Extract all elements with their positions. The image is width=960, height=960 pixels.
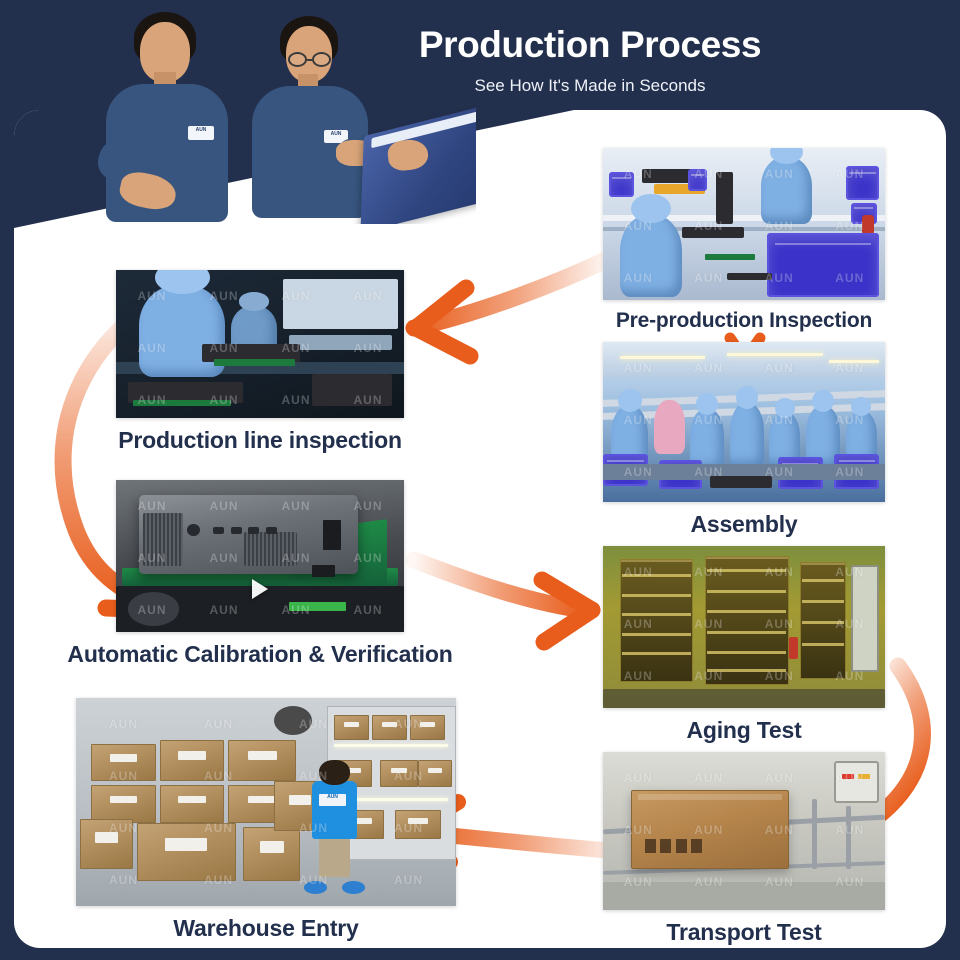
uniform-logo-right: AUN — [324, 130, 348, 138]
step-pre-production-inspection[interactable]: AUNAUNAUNAUN AUNAUNAUNAUN AUNAUNAUNAUN P… — [603, 148, 885, 333]
step-transport-test[interactable]: AUNAUNAUNAUN AUNAUNAUNAUN AUNAUNAUNAUN T… — [603, 752, 885, 946]
step-assembly[interactable]: AUNAUNAUNAUN AUNAUNAUNAUN AUNAUNAUNAUN A… — [603, 342, 885, 538]
step-photo-warehouse-entry[interactable]: AUN AUNAUNAUNAUN AUNAUNAUNAUN AUNAUNAUNA… — [76, 698, 456, 906]
step-photo-production-line[interactable]: AUNAUNAUNAUN AUNAUNAUNAUN AUNAUNAUNAUN — [116, 270, 404, 418]
step-aging-test[interactable]: AUNAUNAUNAUN AUNAUNAUNAUN AUNAUNAUNAUN A… — [603, 546, 885, 744]
arrow-pre-production-to-production-line — [414, 260, 606, 356]
step-label-production-line-inspection: Production line inspection — [116, 427, 404, 454]
infographic-canvas: Production Process See How It's Made in … — [0, 0, 960, 960]
folder-page — [371, 105, 476, 148]
arrow-assembly-to-aging-test — [414, 560, 592, 642]
step-label-transport-test: Transport Test — [603, 919, 885, 946]
step-photo-pre-production[interactable]: AUNAUNAUNAUN AUNAUNAUNAUN AUNAUNAUNAUN — [603, 148, 885, 300]
hero-technicians-photo: AUN AUN — [36, 4, 476, 224]
play-button-icon[interactable] — [252, 579, 268, 599]
step-photo-assembly[interactable]: AUNAUNAUNAUN AUNAUNAUNAUN AUNAUNAUNAUN — [603, 342, 885, 502]
content-card: AUNAUNAUNAUN AUNAUNAUNAUN AUNAUNAUNAUN P… — [14, 110, 946, 948]
step-label-automatic-calibration-verification: Automatic Calibration & Verification — [54, 641, 466, 668]
step-warehouse-entry[interactable]: AUN AUNAUNAUNAUN AUNAUNAUNAUN AUNAUNAUNA… — [76, 698, 456, 942]
step-automatic-calibration-verification[interactable]: AUNAUNAUNAUN AUNAUNAUNAUN AUNAUNAUNAUN A… — [116, 480, 404, 668]
step-photo-transport-test[interactable]: AUNAUNAUNAUN AUNAUNAUNAUN AUNAUNAUNAUN — [603, 752, 885, 910]
step-production-line-inspection[interactable]: AUNAUNAUNAUN AUNAUNAUNAUN AUNAUNAUNAUN P… — [116, 270, 404, 454]
step-photo-calibration[interactable]: AUNAUNAUNAUN AUNAUNAUNAUN AUNAUNAUNAUN — [116, 480, 404, 632]
uniform-logo-left: AUN — [188, 126, 214, 134]
step-label-pre-production-inspection: Pre-production Inspection — [603, 309, 885, 333]
warehouse-worker — [312, 781, 358, 839]
step-label-assembly: Assembly — [603, 511, 885, 538]
step-label-aging-test: Aging Test — [603, 717, 885, 744]
step-photo-aging-test[interactable]: AUNAUNAUNAUN AUNAUNAUNAUN AUNAUNAUNAUN — [603, 546, 885, 708]
step-label-warehouse-entry: Warehouse Entry — [76, 915, 456, 942]
